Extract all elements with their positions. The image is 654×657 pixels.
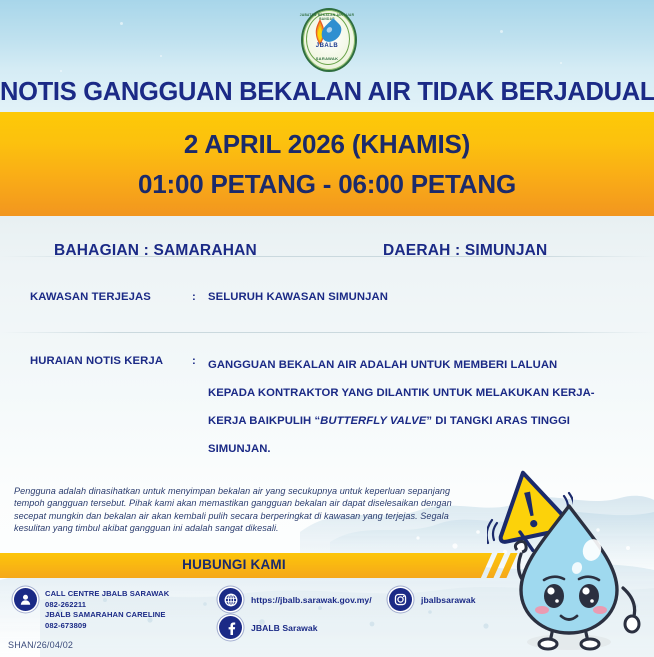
work-desc-line-1: GANGGUAN BEKALAN AIR ADALAH UNTUK MEMBER… (208, 359, 557, 371)
facebook-label[interactable]: JBALB Sarawak (251, 616, 318, 633)
jbalb-logo: JABATAN BEKALAN AIR LUAR BANDAR JBALB SA… (295, 6, 359, 70)
logo-acronym: JBALB (295, 43, 359, 49)
sparkle-dot (60, 70, 62, 72)
sparkle-dot (160, 55, 162, 57)
section-divider (0, 332, 654, 333)
section-divider (0, 256, 654, 257)
notice-time: 01:00 PETANG - 06:00 PETANG (0, 169, 654, 200)
sparkle-dot (500, 30, 503, 33)
work-desc-line-3-post: ” DI TANGKI ARAS TINGGI (426, 415, 570, 427)
facebook-block[interactable]: JBALB Sarawak (219, 616, 318, 639)
work-desc-line-2: KEPADA KONTRAKTOR YANG DILANTIK UNTUK ME… (208, 387, 595, 399)
instagram-icon[interactable] (389, 588, 412, 611)
affected-area-label: KAWASAN TERJEJAS (30, 291, 151, 303)
affected-area-row: KAWASAN TERJEJAS : SELURUH KAWASAN SIMUN… (0, 280, 654, 332)
logo-arc-top-text: JABATAN BEKALAN AIR LUAR BANDAR (295, 13, 359, 21)
instagram-label[interactable]: jbalbsarawak (421, 588, 476, 605)
bahagian-label: BAHAGIAN : SAMARAHAN (54, 242, 257, 260)
sparkle-dot (560, 62, 562, 64)
call-centre-line-3: JBALB SAMARAHAN CARELINE (45, 610, 169, 621)
date-time-band: 2 APRIL 2026 (KHAMIS) 01:00 PETANG - 06:… (0, 112, 654, 216)
notice-poster: JABATAN BEKALAN AIR LUAR BANDAR JBALB SA… (0, 0, 654, 657)
sparkle-dot (120, 22, 123, 25)
reference-code: SHAN/26/04/02 (8, 640, 73, 650)
person-icon (14, 588, 37, 611)
contact-band: HUBUNGI KAMI (0, 553, 654, 578)
work-description-colon: : (192, 355, 196, 367)
facebook-icon[interactable] (219, 616, 242, 639)
call-centre-line-1: CALL CENTRE JBALB SARAWAK (45, 589, 169, 600)
call-centre-line-4: 082-673809 (45, 621, 169, 632)
call-centre-text: CALL CENTRE JBALB SARAWAK 082-262211 JBA… (45, 588, 169, 631)
contact-band-title: HUBUNGI KAMI (0, 557, 468, 572)
call-centre-block: CALL CENTRE JBALB SARAWAK 082-262211 JBA… (14, 588, 169, 631)
call-centre-line-2: 082-262211 (45, 600, 169, 611)
globe-icon[interactable] (219, 588, 242, 611)
work-desc-line-4: SIMUNJAN. (208, 443, 271, 455)
affected-area-value: SELURUH KAWASAN SIMUNJAN (208, 291, 388, 303)
website-label[interactable]: https://jbalb.sarawak.gov.my/ (251, 588, 372, 605)
work-desc-line-3-pre: KERJA BAIKPULIH “ (208, 415, 320, 427)
header-band: JABATAN BEKALAN AIR LUAR BANDAR JBALB SA… (0, 0, 654, 112)
notice-date: 2 APRIL 2026 (KHAMIS) (0, 129, 654, 160)
website-block[interactable]: https://jbalb.sarawak.gov.my/ (219, 588, 372, 611)
daerah-label: DAERAH : SIMUNJAN (383, 242, 547, 260)
footer-contacts: CALL CENTRE JBALB SARAWAK 082-262211 JBA… (0, 580, 654, 657)
instagram-block[interactable]: jbalbsarawak (389, 588, 476, 611)
work-description-label: HURAIAN NOTIS KERJA (30, 355, 163, 367)
work-description-value: GANGGUAN BEKALAN AIR ADALAH UNTUK MEMBER… (208, 351, 628, 463)
affected-area-colon: : (192, 291, 196, 303)
page-title: NOTIS GANGGUAN BEKALAN AIR TIDAK BERJADU… (0, 78, 654, 107)
work-desc-line-3-italic: BUTTERFLY VALVE (320, 415, 426, 427)
disclaimer-text: Pengguna adalah dinasihatkan untuk menyi… (14, 485, 464, 534)
logo-arc-bottom-text: SARAWAK (295, 56, 359, 61)
